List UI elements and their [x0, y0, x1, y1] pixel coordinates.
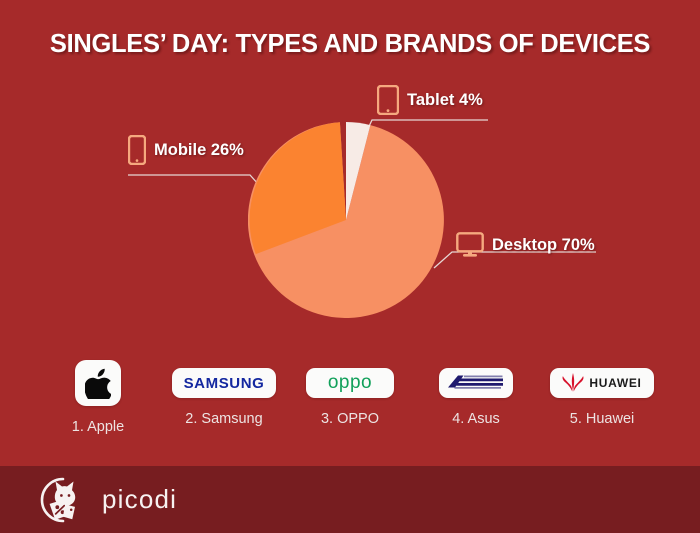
pie-svg: [248, 122, 444, 318]
brand-caption-huawei: 5. Huawei: [570, 411, 634, 427]
picodi-wordmark: picodi: [102, 484, 177, 515]
tablet-icon: [377, 85, 399, 115]
huawei-flower-icon: [562, 373, 584, 393]
pie-chart: [248, 122, 444, 318]
brand-item-huawei[interactable]: HUAWEI 5. Huawei: [539, 360, 665, 427]
apple-logo-icon: [85, 367, 111, 399]
desktop-icon: [456, 232, 484, 258]
callout-desktop-label: Desktop 70%: [492, 236, 595, 255]
brand-item-asus[interactable]: 4. Asus: [413, 360, 539, 427]
callout-tablet: Tablet 4%: [377, 85, 483, 115]
pie-chart-area: Tablet 4% Mobile 26% Deskt: [0, 72, 700, 350]
huawei-logo: HUAWEI: [550, 368, 654, 398]
infographic-root: SINGLES’ DAY: TYPES AND BRANDS OF DEVICE…: [0, 0, 700, 533]
brand-caption-oppo: 3. OPPO: [321, 411, 379, 427]
footer-bar: picodi: [0, 466, 700, 533]
oppo-wordmark: oppo: [328, 372, 372, 394]
samsung-wordmark: SAMSUNG: [184, 375, 265, 392]
apple-logo: [75, 360, 121, 406]
callout-mobile: Mobile 26%: [128, 135, 244, 165]
picodi-cat-logo-icon: [33, 476, 93, 524]
oppo-logo: oppo: [306, 368, 394, 398]
asus-logo: [439, 368, 513, 398]
brand-caption-samsung: 2. Samsung: [185, 411, 262, 427]
picodi-logo[interactable]: picodi: [33, 476, 177, 524]
mobile-icon: [128, 135, 146, 165]
asus-logo-icon: [446, 373, 506, 393]
callout-desktop: Desktop 70%: [456, 232, 595, 258]
huawei-wordmark: HUAWEI: [589, 376, 641, 390]
brands-row: 1. Apple SAMSUNG 2. Samsung oppo 3. OPPO: [0, 360, 700, 452]
brand-item-samsung[interactable]: SAMSUNG 2. Samsung: [161, 360, 287, 427]
brand-item-apple[interactable]: 1. Apple: [35, 360, 161, 435]
callout-mobile-label: Mobile 26%: [154, 141, 244, 160]
brand-item-oppo[interactable]: oppo 3. OPPO: [287, 360, 413, 427]
callout-tablet-label: Tablet 4%: [407, 91, 483, 110]
brand-caption-asus: 4. Asus: [452, 411, 500, 427]
page-title: SINGLES’ DAY: TYPES AND BRANDS OF DEVICE…: [0, 30, 700, 59]
samsung-logo: SAMSUNG: [172, 368, 276, 398]
brand-caption-apple: 1. Apple: [72, 419, 124, 435]
